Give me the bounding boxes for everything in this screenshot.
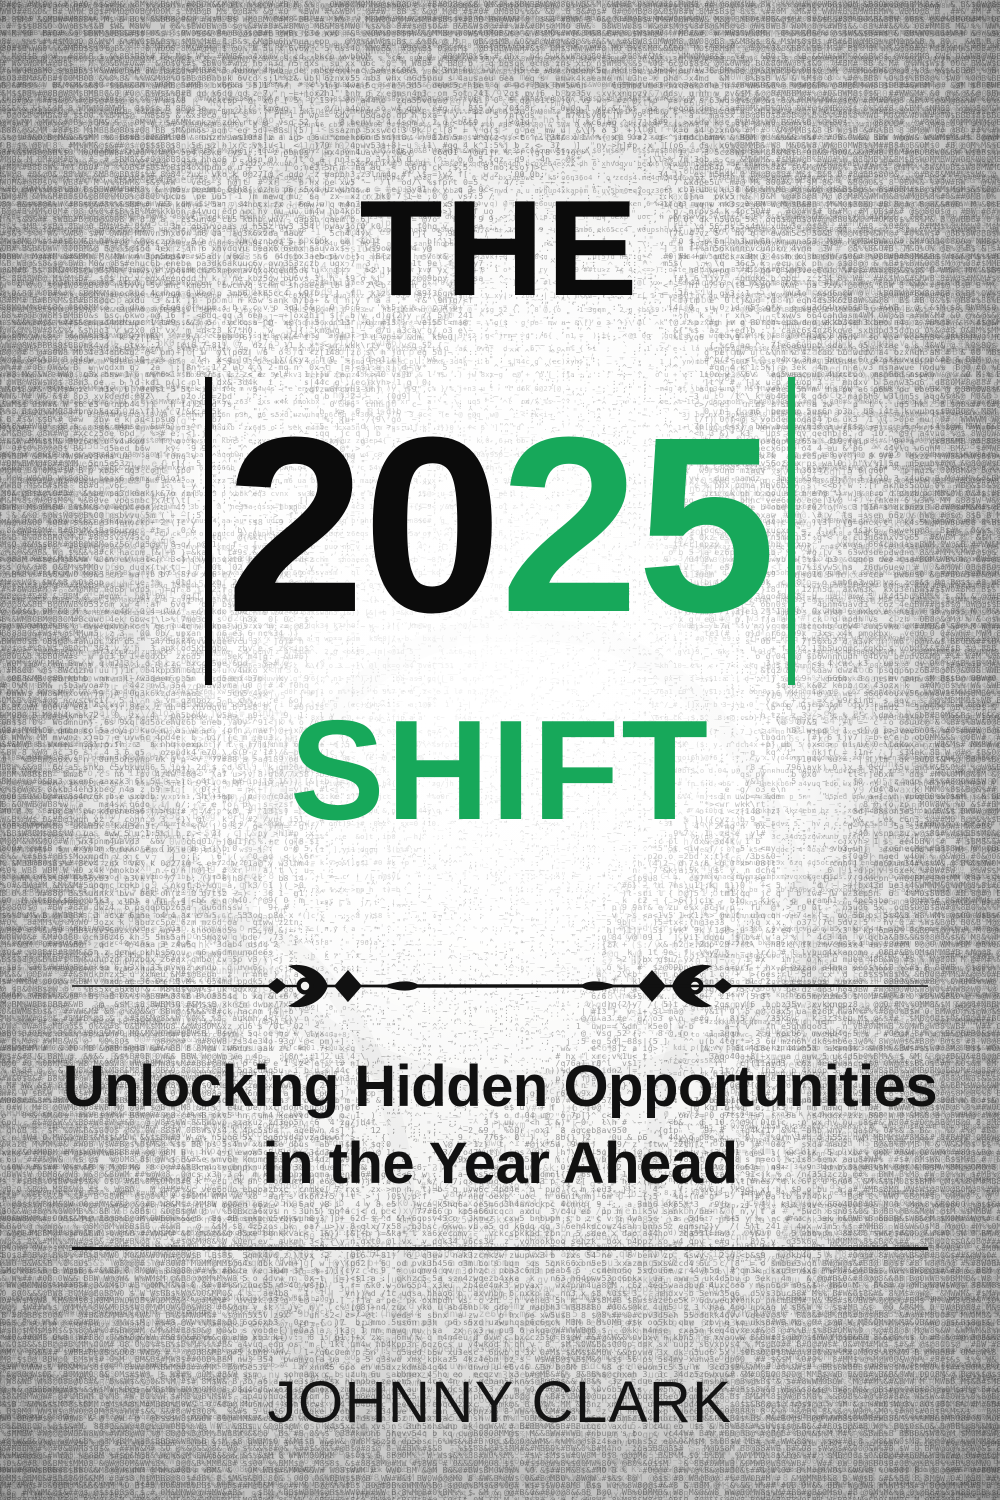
year-second-half: 25 bbox=[500, 385, 774, 664]
year-first-half: 20 bbox=[226, 385, 500, 664]
year-block: 2025 bbox=[0, 372, 1000, 690]
year-number: 2025 bbox=[226, 400, 774, 650]
title-line-the: THE bbox=[0, 180, 1000, 316]
cover-content: THE 2025 SHIFT bbox=[0, 0, 1000, 1500]
right-vertical-bar bbox=[788, 377, 795, 685]
subtitle-line-1: Unlocking Hidden Opportunities bbox=[63, 1054, 937, 1119]
book-cover: BW#%BMB0B88W $W@&8&#W8M#&B0W& W0B @#W8# … bbox=[0, 0, 1000, 1500]
left-vertical-bar bbox=[205, 377, 212, 685]
subtitle: Unlocking Hidden Opportunities in the Ye… bbox=[60, 1048, 940, 1202]
horizontal-rule bbox=[72, 1247, 928, 1250]
author-name: JOHNNY CLARK bbox=[0, 1374, 1000, 1432]
title-line-shift: SHIFT bbox=[0, 700, 1000, 842]
fleuron-divider-icon bbox=[72, 962, 928, 1010]
subtitle-line-2: in the Year Ahead bbox=[60, 1125, 940, 1202]
